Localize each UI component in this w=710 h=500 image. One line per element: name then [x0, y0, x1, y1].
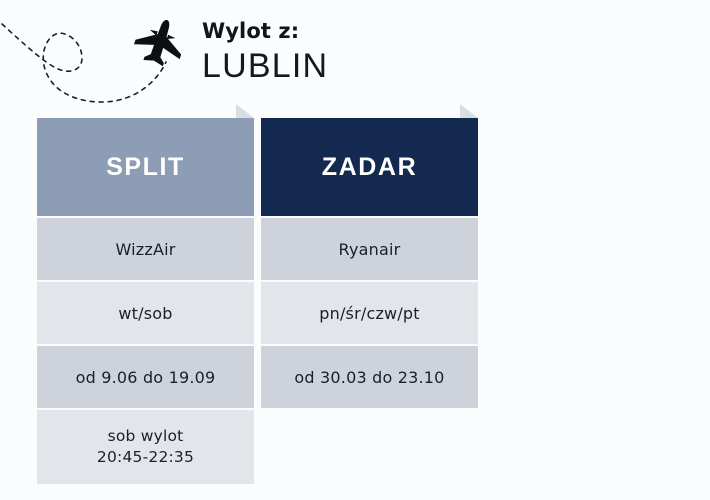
page-title: Wylot z: LUBLIN [202, 18, 328, 86]
destination-column-split: SPLIT WizzAir wt/sob od 9.06 do 19.09 so… [37, 104, 254, 484]
table-cell-airline: Ryanair [261, 218, 478, 280]
times-line-2: 20:45-22:35 [97, 447, 194, 468]
destination-name: ZADAR [322, 153, 418, 182]
banner-fold-icon [460, 104, 478, 118]
destinations-table: SPLIT WizzAir wt/sob od 9.06 do 19.09 so… [37, 104, 482, 484]
destination-banner-split: SPLIT [37, 118, 254, 216]
table-cell-empty [261, 410, 478, 472]
table-cell-airline: WizzAir [37, 218, 254, 280]
table-cell-period: od 30.03 do 23.10 [261, 346, 478, 408]
table-cell-period: od 9.06 do 19.09 [37, 346, 254, 408]
heading-city: LUBLIN [202, 46, 328, 86]
table-cell-days: pn/śr/czw/pt [261, 282, 478, 344]
heading-kicker: Wylot z: [202, 18, 328, 44]
destination-name: SPLIT [106, 153, 185, 182]
table-cell-times: sob wylot 20:45-22:35 [37, 410, 254, 484]
destination-banner-zadar: ZADAR [261, 118, 478, 216]
banner-fold-icon [236, 104, 254, 118]
destination-column-zadar: ZADAR Ryanair pn/śr/czw/pt od 30.03 do 2… [261, 104, 478, 472]
times-line-1: sob wylot [108, 426, 184, 447]
table-cell-days: wt/sob [37, 282, 254, 344]
infographic-canvas: Wylot z: LUBLIN SPLIT WizzAir wt/sob od … [0, 0, 710, 500]
airplane-icon [132, 16, 188, 68]
